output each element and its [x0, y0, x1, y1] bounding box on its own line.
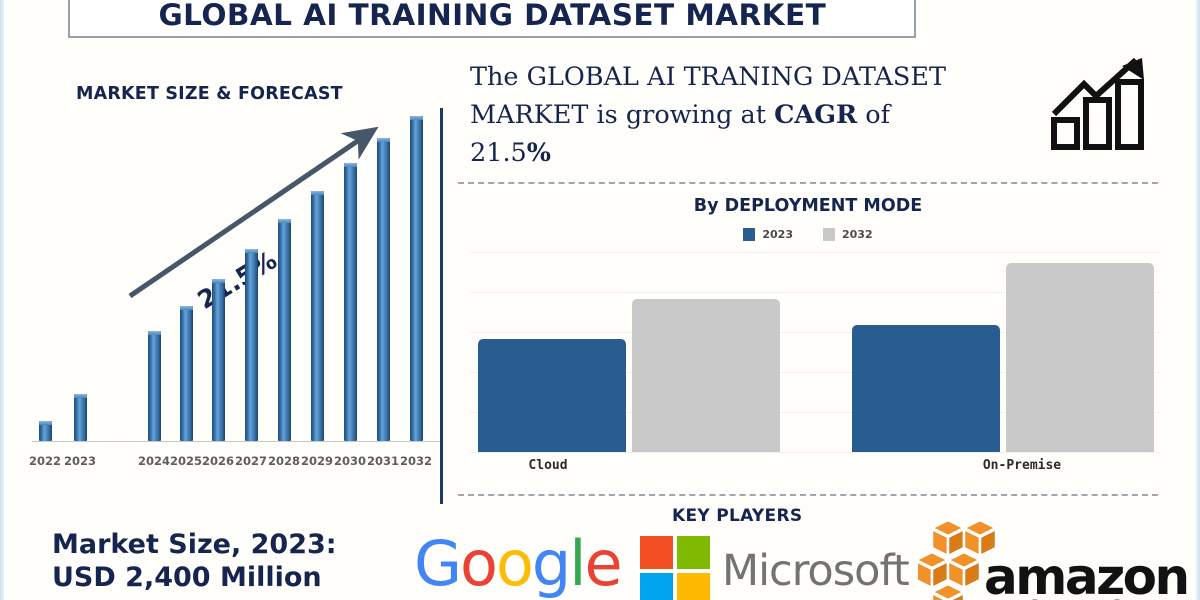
deployment-bar [852, 325, 1000, 452]
deployment-chart-legend: 2023 2032 [458, 228, 1158, 241]
deployment-bar [632, 299, 780, 452]
forecast-bar [377, 138, 390, 441]
forecast-baseline [32, 441, 440, 442]
google-logo: Google [414, 527, 621, 600]
statement-line-2a: MARKET is growing at [470, 100, 774, 130]
forecast-year-label: 2023 [64, 454, 96, 468]
forecast-bar [245, 249, 258, 441]
statement-cagr-word: CAGR [774, 100, 857, 130]
infographic-root: GLOBAL AI TRAINING DATASET MARKET MARKET… [0, 0, 1200, 600]
deployment-category-label: Cloud [528, 458, 567, 473]
deployment-gridline [470, 452, 1160, 453]
forecast-bar [148, 331, 161, 441]
legend-swatch-2023 [743, 228, 755, 241]
statement-line-1: The GLOBAL AI TRANING DATASET [470, 62, 946, 92]
market-forecast-panel: MARKET SIZE & FORECAST 21.5% 20222023202… [4, 40, 440, 520]
panel-divider-vertical [440, 108, 443, 504]
legend-swatch-2032 [823, 228, 835, 241]
deployment-category-label: On-Premise [983, 458, 1061, 473]
google-letter-e: e [585, 527, 621, 600]
forecast-bar [410, 116, 423, 441]
forecast-bar [278, 219, 291, 441]
legend-entry-2023: 2023 [743, 228, 793, 241]
forecast-bar [39, 421, 52, 441]
forecast-bar [74, 394, 87, 441]
legend-label-2023: 2023 [762, 228, 793, 241]
google-letter-o2: o [496, 527, 532, 600]
legend-entry-2032: 2032 [823, 228, 873, 241]
ms-square-green [677, 536, 710, 569]
page-title: GLOBAL AI TRAINING DATASET MARKET [158, 0, 826, 32]
deployment-chart-plot [470, 252, 1160, 452]
statement-percent-sign: % [527, 138, 551, 168]
forecast-year-label: 2030 [334, 454, 366, 468]
market-size-line-2: USD 2,400 Million [52, 562, 322, 593]
microsoft-logo: Microsoft [640, 536, 909, 600]
ms-square-red [640, 536, 673, 569]
page-edge-strip-right [1196, 0, 1200, 600]
forecast-year-label: 2024 [138, 454, 170, 468]
deployment-bar [1006, 263, 1154, 452]
ms-square-yellow [677, 573, 710, 600]
google-letter-l: l [569, 527, 584, 600]
microsoft-squares-icon [640, 536, 710, 600]
forecast-year-label: 2027 [235, 454, 267, 468]
forecast-year-label: 2028 [268, 454, 300, 468]
amazon-wordmark: amazon [984, 548, 1188, 600]
forecast-year-label: 2029 [301, 454, 333, 468]
market-statement: The GLOBAL AI TRANING DATASET MARKET is … [470, 58, 1030, 172]
market-forecast-chart: 21.5% 2022202320242025202620272028202920… [4, 120, 440, 490]
google-letter-g1: G [414, 527, 460, 600]
forecast-bar [212, 279, 225, 441]
statement-line-2c: of [857, 100, 890, 130]
divider-dashed-top [458, 182, 1158, 184]
forecast-bar [344, 163, 357, 441]
forecast-year-label: 2032 [400, 454, 432, 468]
forecast-bar [311, 191, 324, 441]
market-size-callout: Market Size, 2023: USD 2,400 Million [52, 528, 337, 594]
market-forecast-heading: MARKET SIZE & FORECAST [76, 84, 343, 104]
forecast-year-label: 2031 [367, 454, 399, 468]
cagr-annotation: 21.5% [193, 245, 282, 315]
google-letter-g2: g [532, 527, 569, 600]
ms-square-blue [640, 573, 673, 600]
deployment-bar [478, 339, 626, 452]
forecast-year-label: 2025 [170, 454, 202, 468]
key-players-title: KEY PLAYERS [672, 506, 802, 526]
legend-label-2032: 2032 [842, 228, 873, 241]
divider-dashed-bottom [458, 494, 1158, 496]
aws-subtext: webservices [988, 596, 1170, 600]
deployment-gridline [470, 252, 1160, 253]
google-letter-o1: o [460, 527, 496, 600]
title-box: GLOBAL AI TRAINING DATASET MARKET [68, 0, 916, 38]
forecast-year-label: 2022 [29, 454, 61, 468]
market-size-line-1: Market Size, 2023: [52, 529, 337, 560]
forecast-year-label: 2026 [202, 454, 234, 468]
microsoft-wordmark: Microsoft [722, 546, 909, 596]
growth-chart-icon [1048, 56, 1156, 152]
deployment-chart-title: By DEPLOYMENT MODE [458, 196, 1158, 216]
forecast-bar [180, 306, 193, 441]
statement-cagr-value: 21.5 [470, 138, 527, 168]
